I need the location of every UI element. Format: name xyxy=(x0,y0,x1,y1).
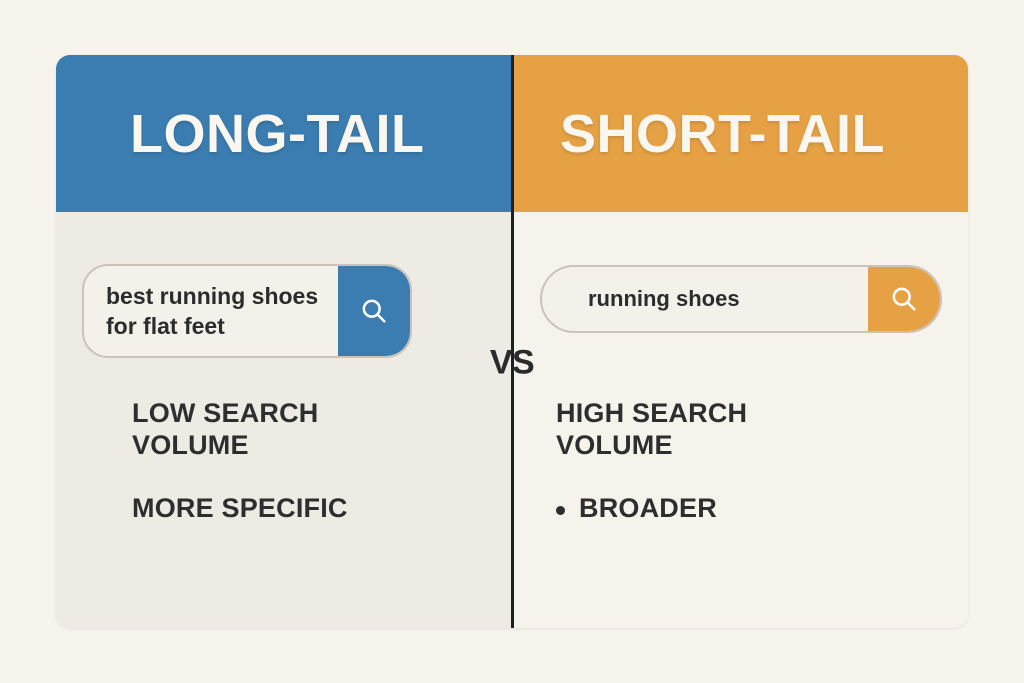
header-short-tail: SHORT-TAIL xyxy=(512,55,968,212)
list-item: MORE SPECIFIC xyxy=(132,493,348,525)
feature-label: MORE SPECIFIC xyxy=(132,493,348,525)
feature-list-short-tail: HIGH SEARCH VOLUME BROADER xyxy=(556,398,747,525)
search-box-long-tail[interactable]: best running shoes for flat feet xyxy=(82,264,412,358)
header-long-tail: LONG-TAIL xyxy=(56,55,512,212)
feature-label: BROADER xyxy=(579,493,717,525)
search-query-long-tail[interactable]: best running shoes for flat feet xyxy=(84,266,338,356)
header-title-short-tail: SHORT-TAIL xyxy=(560,103,885,165)
list-item: HIGH SEARCH VOLUME xyxy=(556,398,747,461)
column-long-tail: LONG-TAIL best running shoes for flat fe… xyxy=(56,55,512,628)
feature-list-long-tail: LOW SEARCH VOLUME MORE SPECIFIC xyxy=(132,398,348,525)
body-long-tail: best running shoes for flat feet LOW SEA… xyxy=(56,212,512,628)
feature-label: LOW SEARCH VOLUME xyxy=(132,398,319,461)
search-button-short-tail[interactable] xyxy=(868,267,940,331)
search-icon xyxy=(359,296,389,326)
search-button-long-tail[interactable] xyxy=(338,266,410,356)
body-short-tail: running shoes HIGH SEARCH VOLUME xyxy=(512,212,968,628)
bullet-marker xyxy=(556,506,565,515)
list-item: LOW SEARCH VOLUME xyxy=(132,398,348,461)
search-box-short-tail[interactable]: running shoes xyxy=(540,265,942,333)
feature-label: HIGH SEARCH VOLUME xyxy=(556,398,747,461)
search-query-short-tail[interactable]: running shoes xyxy=(542,267,868,331)
column-short-tail: SHORT-TAIL running shoes HIGH SE xyxy=(512,55,968,628)
vs-badge: VS xyxy=(486,342,538,385)
search-icon xyxy=(889,284,919,314)
header-title-long-tail: LONG-TAIL xyxy=(130,103,424,165)
list-item: BROADER xyxy=(556,493,747,525)
